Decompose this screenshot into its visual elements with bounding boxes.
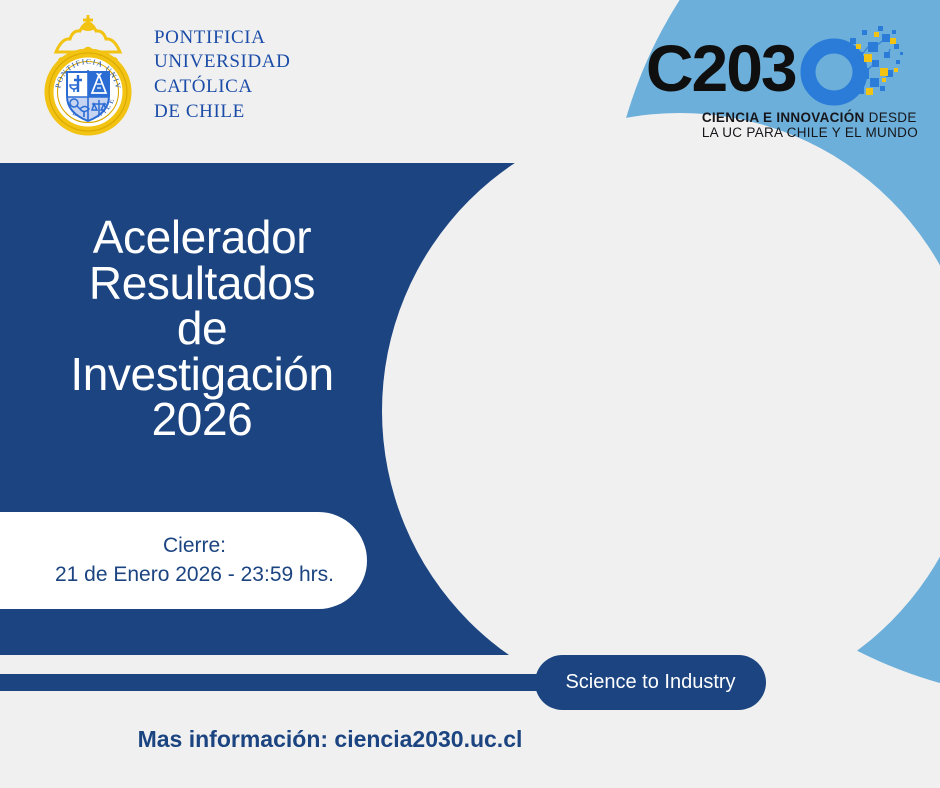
deadline-pill: Cierre: 21 de Enero 2026 - 23:59 hrs. <box>0 512 367 609</box>
deadline-label: Cierre: <box>163 532 226 561</box>
c2030-tagline-line-1: CIENCIA E INNOVACIÓN DESDE <box>702 110 918 125</box>
c2030-tagline: CIENCIA E INNOVACIÓN DESDE LA UC PARA CH… <box>646 110 918 140</box>
page-title: Acelerador Resultados de Investigación 2… <box>0 215 404 443</box>
status-badge-label: Science to Industry <box>565 671 735 694</box>
badge-connector-bar <box>0 674 600 691</box>
title-line-2: Resultados <box>0 261 404 307</box>
c2030-logo: C203 <box>646 28 918 140</box>
c2030-wordmark: C203 <box>646 37 796 100</box>
uc-logo-text: PONTIFICIA UNIVERSIDAD CATÓLICA DE CHILE <box>154 26 290 125</box>
poster-canvas: Science to Industry Acelerador Resultado… <box>0 0 940 788</box>
title-line-1: Acelerador <box>0 215 404 261</box>
more-info-text: Mas información: ciencia2030.uc.cl <box>138 726 523 752</box>
c2030-tagline-bold: CIENCIA E INNOVACIÓN <box>702 110 865 125</box>
title-line-4: Investigación <box>0 352 404 398</box>
uc-text-line-2: UNIVERSIDAD <box>154 50 290 75</box>
title-line-5: 2026 <box>0 397 404 443</box>
uc-coat-of-arms-seal-icon: PONTIFICIA UNIVERSIDAD CATOLICA DE CHILE <box>36 12 140 138</box>
c2030-tagline-rest: DESDE <box>865 110 917 125</box>
status-badge: Science to Industry <box>535 655 766 710</box>
deadline-value: 21 de Enero 2026 - 23:59 hrs. <box>55 561 334 590</box>
title-line-3: de <box>0 306 404 352</box>
pixel-dissolve-circle-icon <box>794 24 906 108</box>
c2030-tagline-line-2: LA UC PARA CHILE Y EL MUNDO <box>702 125 918 140</box>
uc-logo: PONTIFICIA UNIVERSIDAD CATOLICA DE CHILE <box>36 12 290 138</box>
uc-text-line-1: PONTIFICIA <box>154 26 290 51</box>
uc-text-line-4: DE CHILE <box>154 100 290 125</box>
uc-text-line-3: CATÓLICA <box>154 75 290 100</box>
footer: Mas información: ciencia2030.uc.cl <box>0 726 660 753</box>
